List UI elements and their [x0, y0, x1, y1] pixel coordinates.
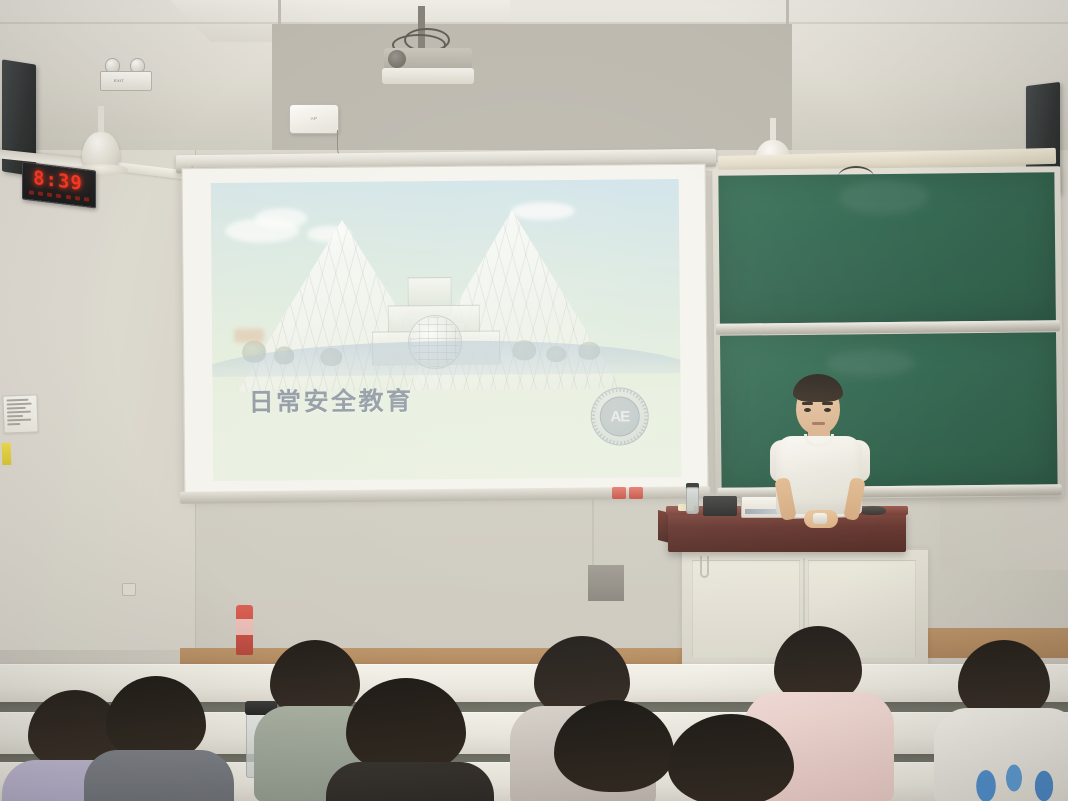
presenter-brow [822, 402, 833, 405]
wifi-access-point-icon: AP [289, 104, 339, 134]
wall-notice-sign [2, 394, 38, 433]
projection-screen: 日常安全教育 AE [182, 164, 709, 499]
presenter-eye [824, 408, 831, 412]
ledge-objects [612, 487, 646, 500]
presentation-slide: 日常安全教育 AE [211, 179, 682, 481]
ceiling-projector-icon [378, 6, 474, 80]
wall-outlet-icon [122, 583, 136, 596]
presenter-eye [804, 408, 811, 412]
emergency-light-icon: EXIT [100, 57, 152, 91]
tshirt-graphic [970, 756, 1066, 801]
presenter [760, 372, 880, 532]
student-body [84, 750, 234, 801]
fire-extinguisher-icon [236, 605, 253, 655]
wall-vent [588, 565, 624, 601]
projector-lamp-glow [382, 68, 474, 84]
ceiling-cable [838, 166, 874, 188]
projector-lens-icon [388, 50, 406, 68]
cabinet-handle [700, 556, 709, 578]
control-box [703, 496, 737, 516]
presenter-brow [802, 402, 813, 405]
yellow-sticker [2, 443, 12, 465]
extinguisher-label [236, 619, 253, 635]
water-bottle-podium [686, 487, 699, 514]
fan-rod [770, 118, 776, 142]
fan-rod [98, 106, 104, 132]
student-body [326, 762, 494, 801]
presentation-clicker-icon [813, 513, 827, 524]
university-logo-icon: AE [591, 387, 650, 446]
access-point-label: AP [290, 116, 338, 121]
presenter-hair [793, 374, 843, 402]
lecture-hall-photo: EXIT AP 8:39 [0, 0, 1068, 801]
presenter-mouth [812, 422, 825, 425]
logo-ring-text [592, 388, 648, 444]
chalkboard-panel-top [718, 172, 1056, 324]
slide-title: 日常安全教育 [248, 381, 413, 418]
emergency-light-label: EXIT [114, 78, 124, 83]
slide-flag-shape [234, 329, 264, 343]
